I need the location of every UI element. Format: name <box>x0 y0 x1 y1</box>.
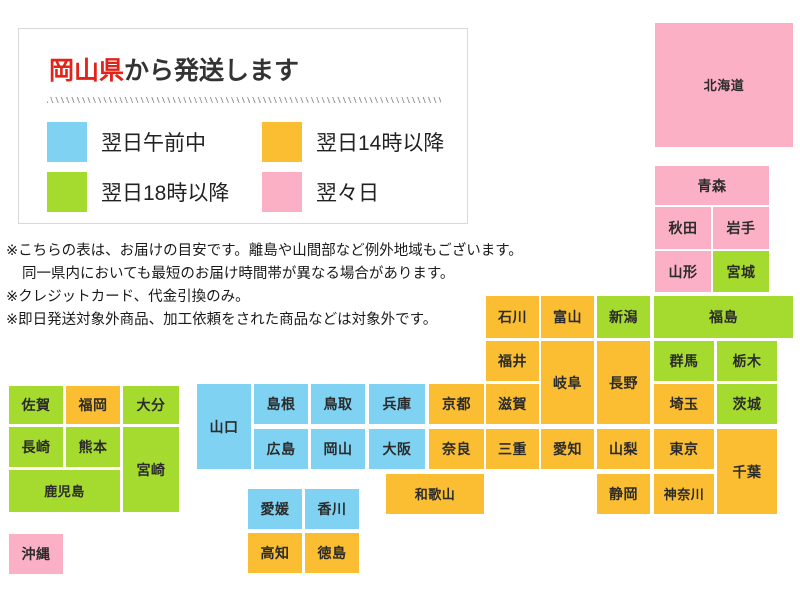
prefecture-label: 沖縄 <box>22 547 51 561</box>
prefecture-tile: 福井 <box>485 340 540 382</box>
legend-panel: 岡山県から発送します 翌日午前中 翌日14時以降 翌日18時以降 <box>18 28 468 224</box>
prefecture-label: 和歌山 <box>415 488 456 501</box>
prefecture-tile: 山形 <box>654 250 712 293</box>
prefecture-label: 香川 <box>318 502 347 516</box>
shipping-delivery-map: 岡山県から発送します 翌日午前中 翌日14時以降 翌日18時以降 <box>0 0 800 602</box>
legend-label-next-day-after-14: 翌日14時以降 <box>316 127 444 157</box>
prefecture-label: 徳島 <box>318 546 347 560</box>
prefecture-label: 岐阜 <box>553 376 582 390</box>
legend-swatch-two-days-later <box>262 172 302 212</box>
prefecture-tile: 長崎 <box>8 426 64 468</box>
prefecture-label: 岡山 <box>324 442 353 456</box>
prefecture-tile: 石川 <box>485 295 540 339</box>
prefecture-tile: 兵庫 <box>368 383 426 425</box>
prefecture-label: 福島 <box>709 310 738 324</box>
prefecture-label: 長崎 <box>22 440 51 454</box>
prefecture-tile: 大分 <box>122 385 180 425</box>
prefecture-label: 高知 <box>261 546 290 560</box>
prefecture-label: 山形 <box>669 265 698 279</box>
legend-label-next-day-after-18: 翌日18時以降 <box>101 177 229 207</box>
prefecture-label: 福岡 <box>79 398 108 412</box>
prefecture-tile: 和歌山 <box>385 473 485 515</box>
prefecture-tile: 千葉 <box>716 428 778 515</box>
prefecture-label: 富山 <box>553 310 582 324</box>
legend-divider <box>47 97 441 103</box>
prefecture-tile: 愛媛 <box>247 488 303 530</box>
prefecture-label: 長野 <box>609 376 638 390</box>
legend-row: 翌日18時以降 翌々日 <box>47 167 447 217</box>
note-line-2: 同一県内においても最短のお届け時間帯が異なる場合があります。 <box>6 263 526 286</box>
prefecture-label: 佐賀 <box>22 398 51 412</box>
prefecture-label: 宮崎 <box>137 463 166 477</box>
prefecture-tile: 岩手 <box>712 206 770 250</box>
prefecture-tile: 富山 <box>540 295 595 339</box>
prefecture-tile: 鳥取 <box>310 383 366 425</box>
prefecture-label: 兵庫 <box>383 397 412 411</box>
prefecture-label: 東京 <box>670 442 699 456</box>
prefecture-label: 石川 <box>498 310 527 324</box>
prefecture-label: 青森 <box>698 179 727 193</box>
prefecture-label: 鳥取 <box>324 397 353 411</box>
prefecture-label: 大阪 <box>383 442 412 456</box>
prefecture-label: 滋賀 <box>498 397 527 411</box>
prefecture-tile: 群馬 <box>653 340 715 382</box>
prefecture-tile: 新潟 <box>596 295 651 339</box>
prefecture-tile: 東京 <box>653 428 715 470</box>
prefecture-label: 新潟 <box>609 310 638 324</box>
prefecture-tile: 福島 <box>653 295 794 339</box>
prefecture-tile: 京都 <box>428 383 485 425</box>
prefecture-label: 埼玉 <box>670 397 699 411</box>
prefecture-label: 山梨 <box>609 442 638 456</box>
note-line-1: ※こちらの表は、お届けの目安です。離島や山間部など例外地域もございます。 <box>6 240 526 263</box>
prefecture-tile: 沖縄 <box>8 533 64 575</box>
prefecture-tile: 広島 <box>253 428 309 470</box>
prefecture-label: 群馬 <box>670 354 699 368</box>
legend-items: 翌日午前中 翌日14時以降 翌日18時以降 翌々日 <box>47 117 447 217</box>
prefecture-label: 愛媛 <box>261 502 290 516</box>
prefecture-tile: 宮城 <box>712 250 770 293</box>
prefecture-tile: 高知 <box>247 532 303 574</box>
prefecture-label: 大分 <box>137 398 166 412</box>
prefecture-tile: 岡山 <box>310 428 366 470</box>
prefecture-label: 広島 <box>267 442 296 456</box>
prefecture-label: 静岡 <box>609 487 638 501</box>
prefecture-tile: 神奈川 <box>653 473 715 515</box>
prefecture-tile: 秋田 <box>654 206 712 250</box>
legend-swatch-next-day-after-18 <box>47 172 87 212</box>
prefecture-label: 山口 <box>210 420 239 434</box>
prefecture-tile: 北海道 <box>654 22 794 148</box>
notes-block: ※こちらの表は、お届けの目安です。離島や山間部など例外地域もございます。 同一県… <box>6 240 526 332</box>
prefecture-label: 鹿児島 <box>44 485 85 498</box>
prefecture-tile: 佐賀 <box>8 385 64 425</box>
legend-label-two-days-later: 翌々日 <box>316 177 379 207</box>
legend-label-next-day-morning: 翌日午前中 <box>101 127 206 157</box>
prefecture-tile: 山梨 <box>596 428 651 470</box>
prefecture-label: 熊本 <box>79 440 108 454</box>
prefecture-tile: 静岡 <box>596 473 651 515</box>
prefecture-tile: 福岡 <box>65 385 121 425</box>
prefecture-label: 奈良 <box>442 442 471 456</box>
prefecture-tile: 埼玉 <box>653 383 715 425</box>
origin-prefecture-label: 岡山県 <box>49 57 124 85</box>
prefecture-tile: 長野 <box>596 340 651 425</box>
note-line-3: ※クレジットカード、代金引換のみ。 <box>6 286 526 309</box>
prefecture-tile: 三重 <box>485 428 540 470</box>
legend-title-rest: から発送します <box>124 57 299 85</box>
prefecture-tile: 奈良 <box>428 428 485 470</box>
legend-item-next-day-morning: 翌日午前中 <box>47 122 262 162</box>
legend-row: 翌日午前中 翌日14時以降 <box>47 117 447 167</box>
prefecture-tile: 徳島 <box>304 532 360 574</box>
prefecture-tile: 青森 <box>654 165 770 206</box>
prefecture-tile: 島根 <box>253 383 309 425</box>
prefecture-label: 岩手 <box>727 221 756 235</box>
prefecture-tile: 栃木 <box>716 340 778 382</box>
prefecture-tile: 香川 <box>304 488 360 530</box>
prefecture-label: 島根 <box>267 397 296 411</box>
legend-item-next-day-after-18: 翌日18時以降 <box>47 172 262 212</box>
legend-item-next-day-after-14: 翌日14時以降 <box>262 122 447 162</box>
note-line-4: ※即日発送対象外商品、加工依頼をされた商品などは対象外です。 <box>6 309 526 332</box>
prefecture-label: 神奈川 <box>664 488 705 501</box>
prefecture-tile: 鹿児島 <box>8 469 121 513</box>
prefecture-tile: 岐阜 <box>540 340 595 425</box>
legend-item-two-days-later: 翌々日 <box>262 172 447 212</box>
prefecture-label: 愛知 <box>553 442 582 456</box>
prefecture-label: 三重 <box>498 442 527 456</box>
prefecture-label: 京都 <box>442 397 471 411</box>
prefecture-tile: 茨城 <box>716 383 778 425</box>
prefecture-tile: 熊本 <box>65 426 121 468</box>
prefecture-tile: 滋賀 <box>485 383 540 425</box>
prefecture-tile: 山口 <box>196 383 252 470</box>
prefecture-label: 栃木 <box>733 354 762 368</box>
legend-title: 岡山県から発送します <box>49 51 299 87</box>
prefecture-tile: 宮崎 <box>122 426 180 513</box>
prefecture-label: 宮城 <box>727 265 756 279</box>
legend-swatch-next-day-after-14 <box>262 122 302 162</box>
prefecture-label: 北海道 <box>704 79 745 92</box>
prefecture-tile: 大阪 <box>368 428 426 470</box>
prefecture-label: 茨城 <box>733 397 762 411</box>
prefecture-label: 福井 <box>498 354 527 368</box>
prefecture-label: 千葉 <box>733 465 762 479</box>
prefecture-tile: 愛知 <box>540 428 595 470</box>
legend-swatch-next-day-morning <box>47 122 87 162</box>
prefecture-label: 秋田 <box>669 221 698 235</box>
